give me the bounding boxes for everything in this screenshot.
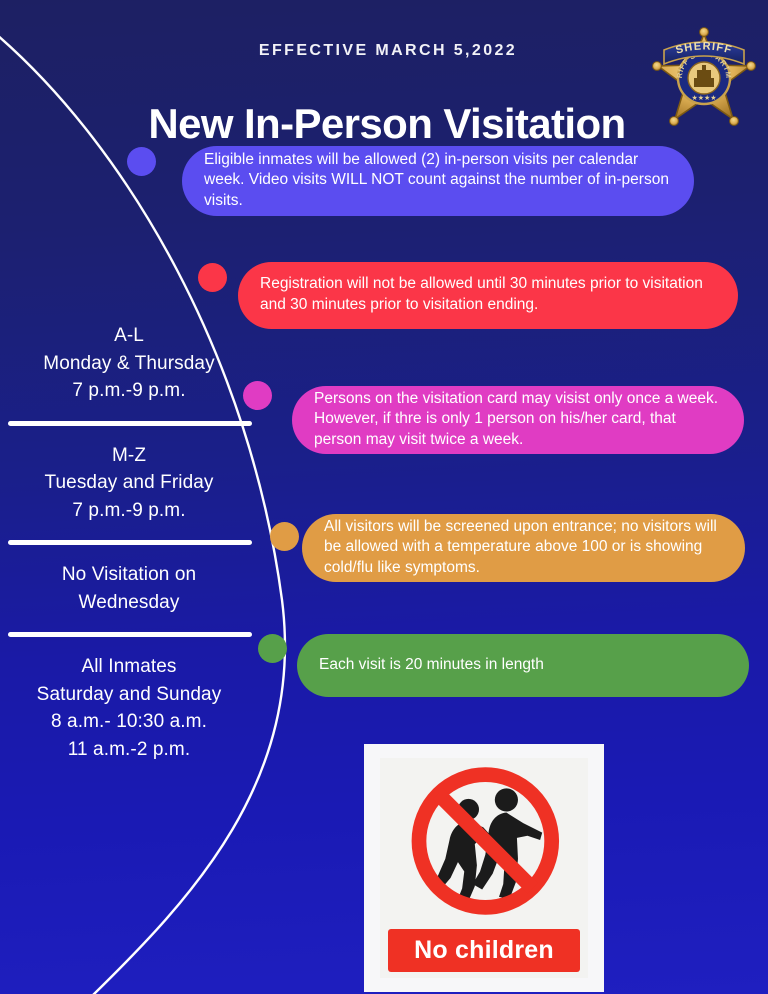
schedule-line: Tuesday and Friday — [0, 469, 258, 497]
schedule-divider — [8, 540, 252, 545]
schedule-line: Wednesday — [0, 589, 258, 617]
rule-bubble-4: All visitors will be screened upon entra… — [302, 514, 745, 582]
rule-bubble-1: Eligible inmates will be allowed (2) in-… — [182, 146, 694, 216]
schedule-line: All Inmates — [0, 653, 258, 681]
rule-bubble-5: Each visit is 20 minutes in length — [297, 634, 749, 697]
schedule-line: A-L — [0, 322, 258, 350]
schedule-line: 7 p.m.-9 p.m. — [0, 377, 258, 405]
rule-bubble-2: Registration will not be allowed until 3… — [238, 262, 738, 329]
schedule-group-wednesday: No Visitation on Wednesday — [0, 557, 258, 618]
schedule-group-weekend: All Inmates Saturday and Sunday 8 a.m.- … — [0, 649, 258, 765]
schedule-line: 7 p.m.-9 p.m. — [0, 497, 258, 525]
schedule-group-m-z: M-Z Tuesday and Friday 7 p.m.-9 p.m. — [0, 438, 258, 527]
no-children-icon — [380, 762, 591, 920]
schedule-divider — [8, 632, 252, 637]
timeline-dot-5 — [258, 634, 287, 663]
schedule-line: M-Z — [0, 442, 258, 470]
schedule-line: 8 a.m.- 10:30 a.m. — [0, 708, 258, 736]
timeline-dot-1 — [127, 147, 156, 176]
timeline-dot-4 — [270, 522, 299, 551]
rule-bubble-3: Persons on the visitation card may visis… — [292, 386, 744, 454]
schedule-group-a-l: A-L Monday & Thursday 7 p.m.-9 p.m. — [0, 318, 258, 407]
schedule-line: No Visitation on — [0, 561, 258, 589]
no-children-label: No children — [388, 929, 580, 972]
schedule-divider — [8, 421, 252, 426]
visitation-schedule: A-L Monday & Thursday 7 p.m.-9 p.m. M-Z … — [0, 318, 258, 766]
schedule-line: 11 a.m.-2 p.m. — [0, 736, 258, 764]
schedule-line: Saturday and Sunday — [0, 681, 258, 709]
page-title: New In-Person Visitation — [0, 100, 768, 148]
visitation-poster: SHERIFF'S DEPARTMENT ★★★★ SHERIFF EFFECT… — [0, 0, 768, 994]
timeline-dot-2 — [198, 263, 227, 292]
effective-date-label: EFFECTIVE MARCH 5,2022 — [0, 42, 768, 60]
no-children-sign: No children — [364, 744, 604, 992]
schedule-line: Monday & Thursday — [0, 350, 258, 378]
